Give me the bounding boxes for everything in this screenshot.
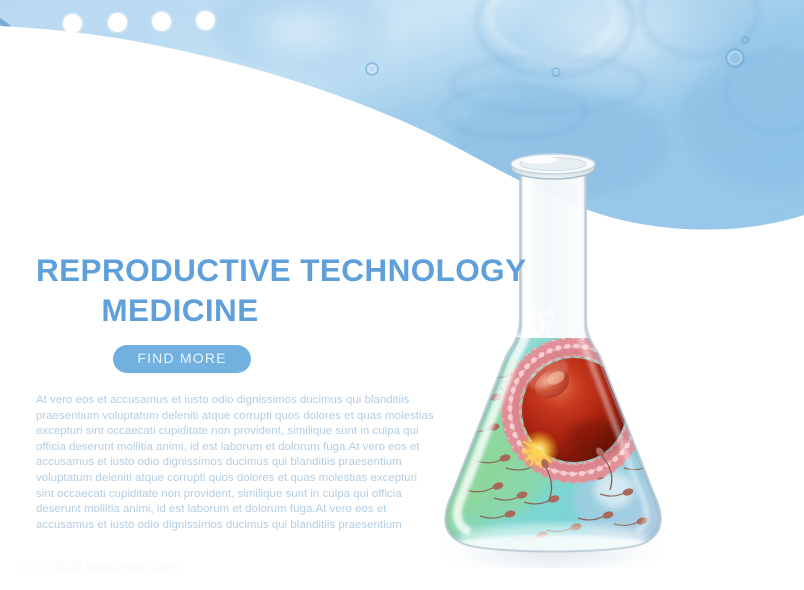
- body-paragraph: At vero eos et accusamus et iusto odio d…: [36, 393, 436, 533]
- decorative-dot-row: [0, 0, 804, 50]
- watermark-bottom: VEER图库 www.veer.com: [18, 556, 178, 575]
- cta-row: FIND MORE: [36, 345, 456, 373]
- banner-canvas: REPRODUCTIVE TECHNOLOGY MEDICINE FIND MO…: [0, 0, 804, 590]
- decorative-dot-1: [63, 14, 82, 33]
- erlenmeyer-flask-svg: [428, 138, 728, 568]
- flask-rim: [511, 154, 595, 179]
- flask-illustration: [428, 138, 728, 568]
- headline-line-2: MEDICINE: [36, 290, 456, 330]
- find-more-button[interactable]: FIND MORE: [113, 345, 250, 373]
- copy-block: REPRODUCTIVE TECHNOLOGY MEDICINE FIND MO…: [36, 250, 456, 533]
- decorative-dot-2: [108, 13, 127, 32]
- headline-line-1: REPRODUCTIVE TECHNOLOGY: [36, 250, 456, 290]
- decorative-dot-3: [152, 12, 171, 31]
- page-title: REPRODUCTIVE TECHNOLOGY MEDICINE: [36, 250, 456, 331]
- decorative-dot-4: [196, 11, 215, 30]
